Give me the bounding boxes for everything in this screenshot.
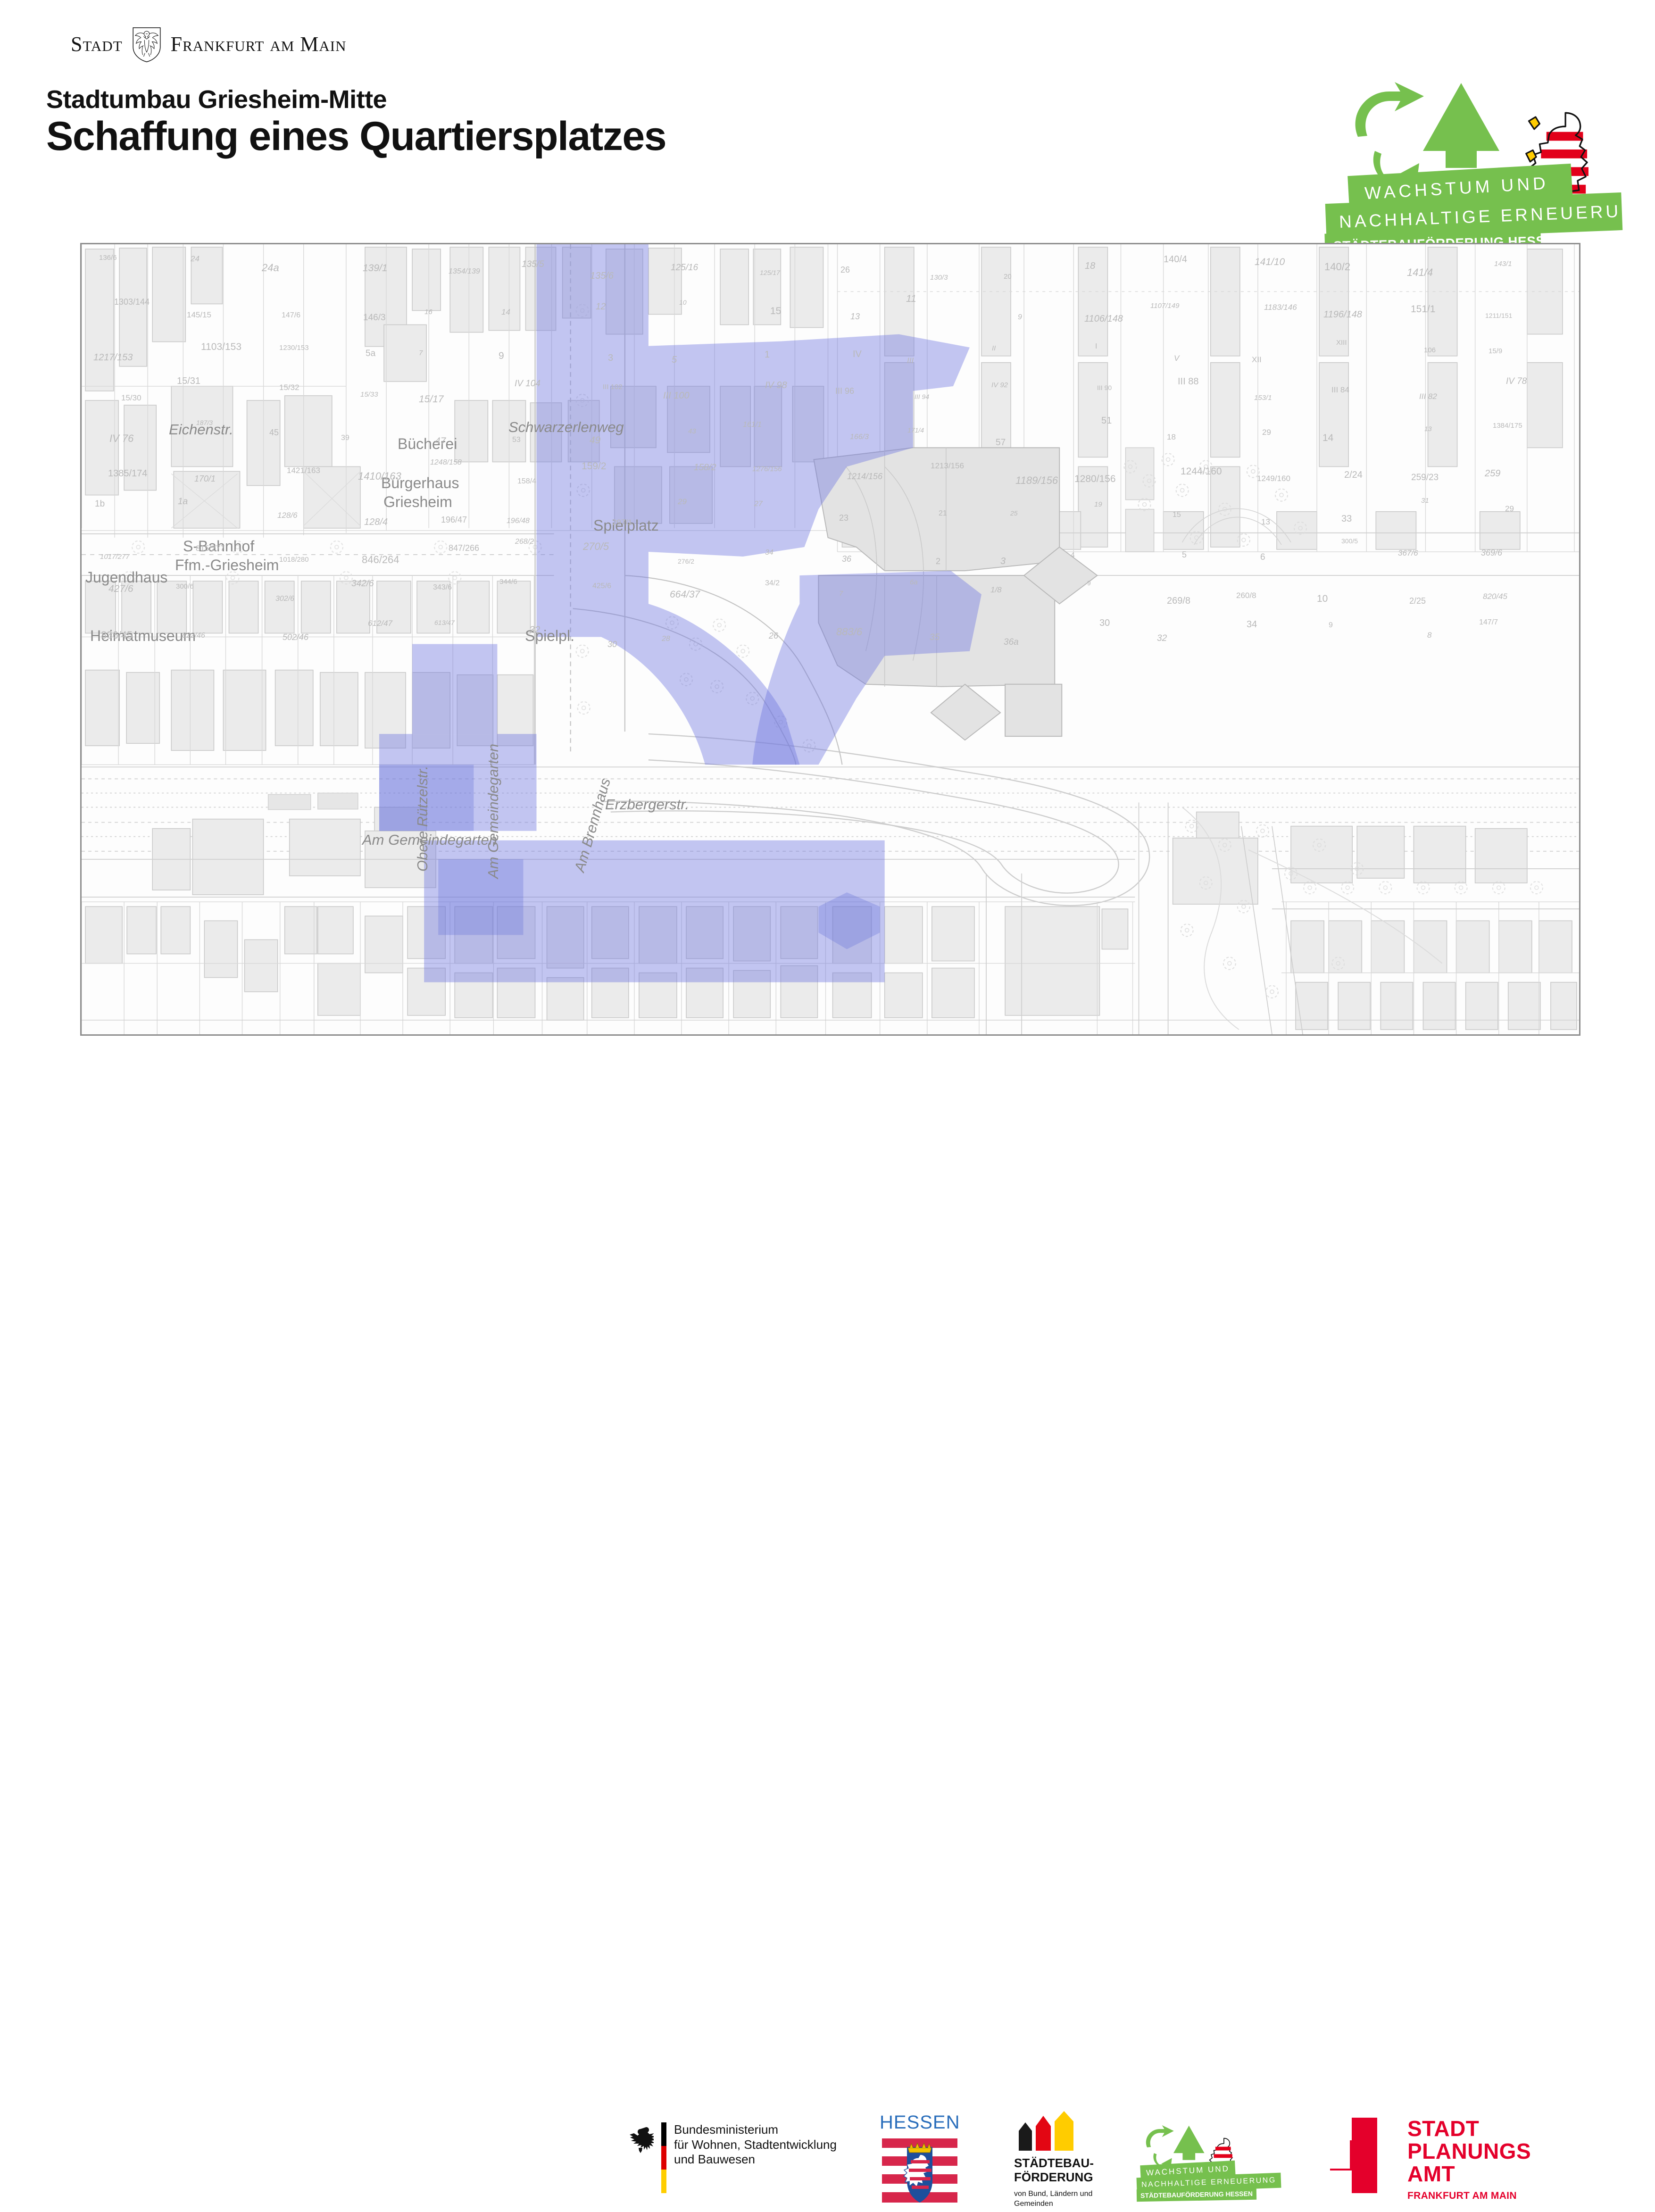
staedtebau-sub: von Bund, Ländern und Gemeinden — [1014, 2189, 1123, 2209]
cadastral-map[interactable]: Eichenstr. Schwarzerlenweg Am Gemeindega… — [80, 243, 1580, 1036]
spa-name: STADT PLANUNGS AMT FRANKFURT AM MAIN — [1407, 2118, 1531, 2201]
frankfurt-eagle-crest-icon — [129, 26, 164, 63]
hessen-label: HESSEN — [880, 2113, 960, 2132]
staedtebau-title: STÄDTEBAU- FÖRDERUNG — [1014, 2156, 1123, 2185]
spa-line-2: PLANUNGS — [1407, 2139, 1531, 2163]
bmwsb-name: Bundesministerium für Wohnen, Stadtentwi… — [674, 2122, 837, 2167]
city-logo-word-stadt: Stadt — [71, 34, 123, 55]
bmwsb-logo: Bundesministerium für Wohnen, Stadtentwi… — [627, 2122, 854, 2198]
staedtebau-line-2: FÖRDERUNG — [1014, 2170, 1093, 2184]
map-canvas — [82, 244, 1579, 1034]
bmwsb-line-2: für Wohnen, Stadtentwicklung — [674, 2137, 837, 2152]
page-title: Schaffung eines Quartiersplatzes — [46, 113, 666, 160]
hessen-logo: HESSEN — [880, 2113, 960, 2207]
city-of-frankfurt-logo: Stadt — [71, 26, 373, 63]
german-flag-bar — [661, 2122, 666, 2193]
page-header: Stadt — [0, 0, 1655, 236]
federal-eagle-icon — [627, 2127, 654, 2158]
funding-logo-bar: Bundesministerium für Wohnen, Stadtentwi… — [0, 1052, 1655, 1170]
bmwsb-line-3: und Bauwesen — [674, 2152, 755, 2166]
stadtplanungsamt-logo: STADT PLANUNGS AMT FRANKFURT AM MAIN — [1330, 2118, 1594, 2207]
spa-line-3: AMT — [1407, 2162, 1455, 2186]
frankfurt-f-mark-icon — [1330, 2118, 1391, 2193]
staedtebaufoerderung-logo: STÄDTEBAU- FÖRDERUNG von Bund, Ländern u… — [1014, 2113, 1123, 2212]
bmwsb-line-1: Bundesministerium — [674, 2122, 778, 2137]
spa-line-1: STADT — [1407, 2116, 1479, 2141]
staedtebau-line-1: STÄDTEBAU- — [1014, 2156, 1094, 2170]
three-houses-icon — [1014, 2113, 1123, 2151]
hessen-coat-of-arms-icon — [880, 2136, 960, 2206]
wne-logo-small: WACHSTUM UND NACHHALTIGE ERNEUERUNG STÄD… — [1137, 2122, 1273, 2203]
spa-sub: FRANKFURT AM MAIN — [1407, 2191, 1531, 2201]
wne-small-line-3: STÄDTEBAUFÖRDERUNG HESSEN — [1137, 2187, 1256, 2202]
project-subtitle: Stadtumbau Griesheim-Mitte — [46, 85, 387, 114]
city-logo-word-frankfurt-am-main: Frankfurt am Main — [171, 34, 347, 55]
